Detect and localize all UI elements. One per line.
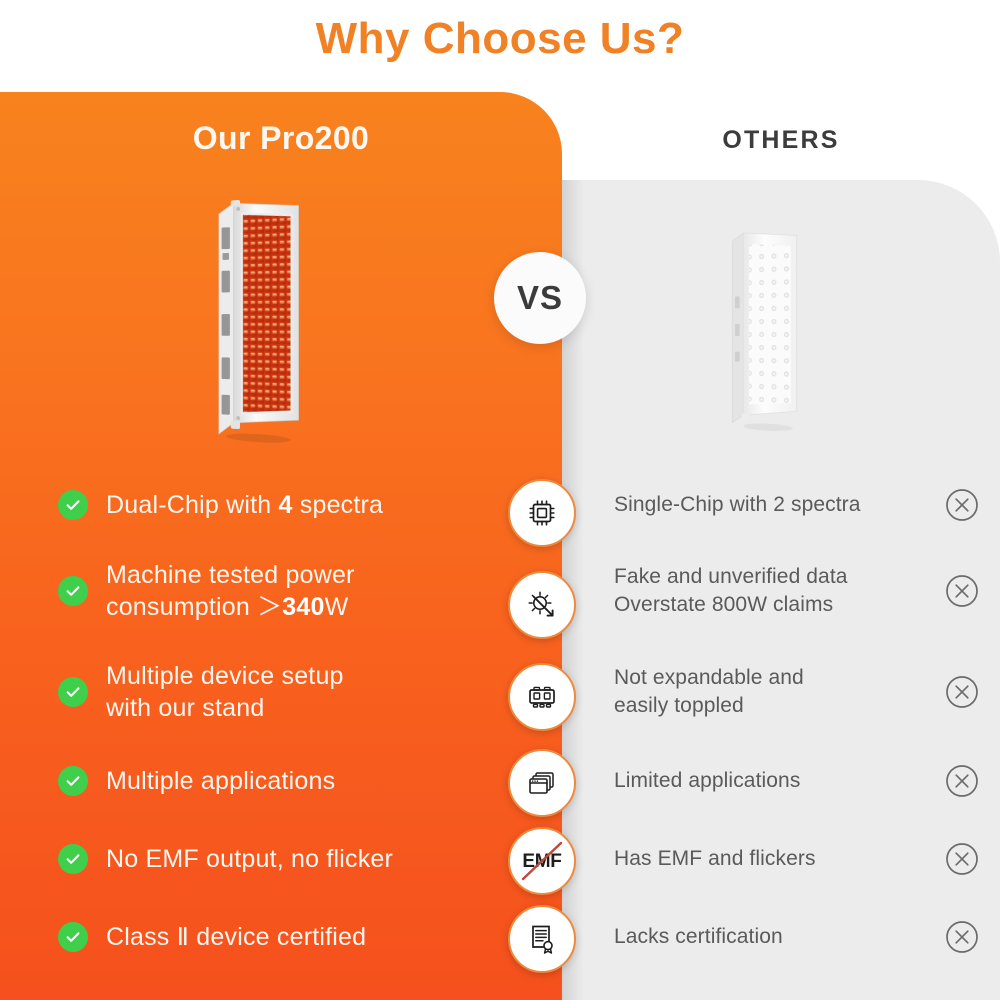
windows-stack-icon xyxy=(525,766,559,800)
list-item: Lacks certification xyxy=(562,898,1000,976)
chip-icon xyxy=(525,496,559,530)
list-item: Multiple device setupwith our stand xyxy=(0,642,562,742)
list-item-label: Multiple applications xyxy=(106,765,335,798)
unstable-stand-icon xyxy=(525,680,559,714)
green-check-icon xyxy=(58,677,88,707)
product-image-pro200 xyxy=(201,192,315,445)
list-item-label: Fake and unverified dataOverstate 800W c… xyxy=(614,563,936,618)
ours-column-heading: Our Pro200 xyxy=(0,120,562,157)
pro200-panel-illustration xyxy=(201,192,315,445)
x-circle-icon xyxy=(944,487,980,523)
certificate-icon-badge xyxy=(508,905,576,973)
list-item: Has EMF and flickers xyxy=(562,820,1000,898)
unstable-stand-icon-badge xyxy=(508,663,576,731)
x-circle-icon xyxy=(944,919,980,955)
chip-icon-badge xyxy=(508,479,576,547)
list-item-label: Single-Chip with 2 spectra xyxy=(614,491,936,519)
vs-badge: VS xyxy=(494,252,586,344)
list-item-label: Dual-Chip with 4 spectra xyxy=(106,489,383,522)
x-circle-icon xyxy=(944,763,980,799)
list-item-label: Class Ⅱ device certified xyxy=(106,921,366,954)
list-item-label: Multiple device setupwith our stand xyxy=(106,660,344,725)
list-item: Single-Chip with 2 spectra xyxy=(562,470,1000,540)
list-item: No EMF output, no flicker xyxy=(0,820,562,898)
comparison-infographic: Why Choose Us? Our Pro200 OTHERS xyxy=(0,0,1000,1000)
x-circle-icon xyxy=(944,841,980,877)
green-check-icon xyxy=(58,490,88,520)
list-item: Fake and unverified dataOverstate 800W c… xyxy=(562,540,1000,642)
page-title: Why Choose Us? xyxy=(0,14,1000,64)
list-item: Machine tested powerconsumption ＞340W xyxy=(0,540,562,642)
others-panel-illustration xyxy=(720,222,809,437)
list-item-label: Not expandable andeasily toppled xyxy=(614,664,936,719)
x-circle-icon xyxy=(944,573,980,609)
list-item-label: Has EMF and flickers xyxy=(614,845,936,873)
fake-data-icon xyxy=(525,588,559,622)
list-item: Multiple applications xyxy=(0,742,562,820)
others-feature-list: Single-Chip with 2 spectra Fake and unve… xyxy=(562,470,1000,976)
windows-stack-icon-badge xyxy=(508,749,576,817)
x-circle-icon xyxy=(944,674,980,710)
certificate-icon xyxy=(525,922,559,956)
ours-feature-list: Dual-Chip with 4 spectra Machine tested … xyxy=(0,470,562,976)
others-column-heading: OTHERS xyxy=(562,126,1000,155)
fake-data-icon-badge xyxy=(508,571,576,639)
list-item: Limited applications xyxy=(562,742,1000,820)
list-item-label: Lacks certification xyxy=(614,923,936,951)
emf-crossed-icon-badge: EMF xyxy=(508,827,576,895)
green-check-icon xyxy=(58,766,88,796)
green-check-icon xyxy=(58,576,88,606)
green-check-icon xyxy=(58,844,88,874)
list-item-label: Limited applications xyxy=(614,767,936,795)
list-item: Dual-Chip with 4 spectra xyxy=(0,470,562,540)
emf-crossed-icon: EMF xyxy=(515,834,569,888)
list-item-label: Machine tested powerconsumption ＞340W xyxy=(106,559,355,624)
list-item: Not expandable andeasily toppled xyxy=(562,642,1000,742)
list-item-label: No EMF output, no flicker xyxy=(106,843,393,876)
product-image-others xyxy=(720,222,809,437)
list-item: Class Ⅱ device certified xyxy=(0,898,562,976)
green-check-icon xyxy=(58,922,88,952)
